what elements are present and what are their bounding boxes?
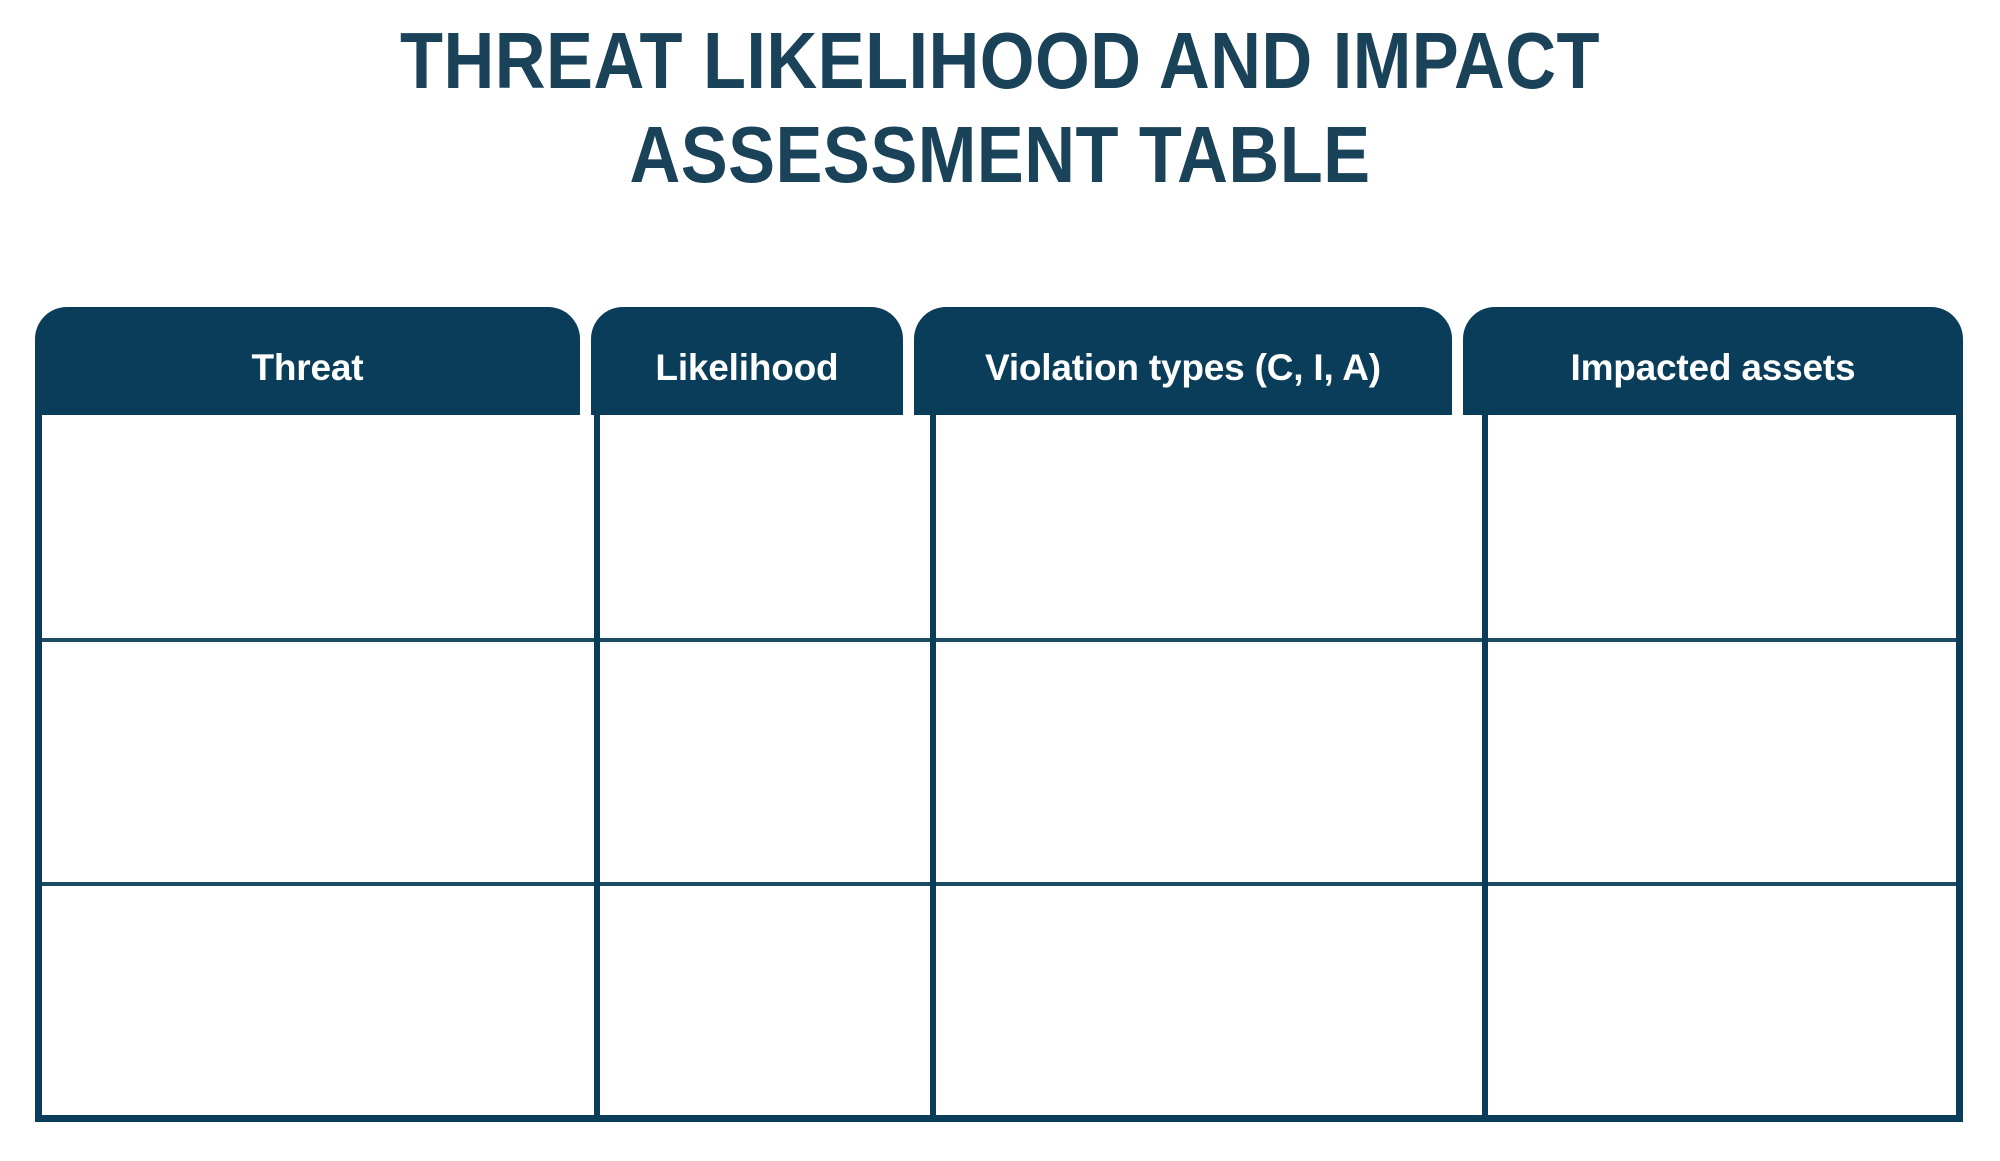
page-title-line-1: THREAT LIKELIHOOD AND IMPACT bbox=[120, 14, 1880, 108]
cell-violation-types[interactable] bbox=[930, 415, 1482, 638]
column-header-threat[interactable]: Threat bbox=[35, 307, 580, 415]
column-header-likelihood-label: Likelihood bbox=[655, 334, 838, 388]
table-row bbox=[42, 642, 1956, 886]
cell-impacted-assets[interactable] bbox=[1482, 886, 1956, 1115]
column-header-threat-label: Threat bbox=[251, 334, 363, 388]
table-body bbox=[35, 415, 1963, 1122]
cell-likelihood[interactable] bbox=[594, 642, 930, 882]
page-title: THREAT LIKELIHOOD AND IMPACT ASSESSMENT … bbox=[0, 14, 2000, 202]
column-divider-2 bbox=[930, 415, 936, 1122]
page-title-line-2: ASSESSMENT TABLE bbox=[120, 108, 1880, 202]
page-root: THREAT LIKELIHOOD AND IMPACT ASSESSMENT … bbox=[0, 0, 2000, 1161]
table-row bbox=[42, 886, 1956, 1115]
cell-threat[interactable] bbox=[42, 415, 594, 638]
cell-violation-types[interactable] bbox=[930, 642, 1482, 882]
column-header-likelihood[interactable]: Likelihood bbox=[591, 307, 903, 415]
cell-impacted-assets[interactable] bbox=[1482, 415, 1956, 638]
column-header-violation-types[interactable]: Violation types (C, I, A) bbox=[914, 307, 1452, 415]
cell-likelihood[interactable] bbox=[594, 886, 930, 1115]
column-divider-3 bbox=[1482, 415, 1488, 1122]
column-divider-1 bbox=[594, 415, 600, 1122]
column-header-violation-types-label: Violation types (C, I, A) bbox=[985, 334, 1381, 388]
cell-threat[interactable] bbox=[42, 886, 594, 1115]
cell-threat[interactable] bbox=[42, 642, 594, 882]
column-header-impacted-assets[interactable]: Impacted assets bbox=[1463, 307, 1963, 415]
cell-impacted-assets[interactable] bbox=[1482, 642, 1956, 882]
table-row bbox=[42, 415, 1956, 642]
column-header-impacted-assets-label: Impacted assets bbox=[1570, 334, 1855, 388]
cell-likelihood[interactable] bbox=[594, 415, 930, 638]
table-header-row: Threat Likelihood Violation types (C, I,… bbox=[35, 307, 1963, 415]
cell-violation-types[interactable] bbox=[930, 886, 1482, 1115]
assessment-table: Threat Likelihood Violation types (C, I,… bbox=[35, 307, 1963, 1122]
